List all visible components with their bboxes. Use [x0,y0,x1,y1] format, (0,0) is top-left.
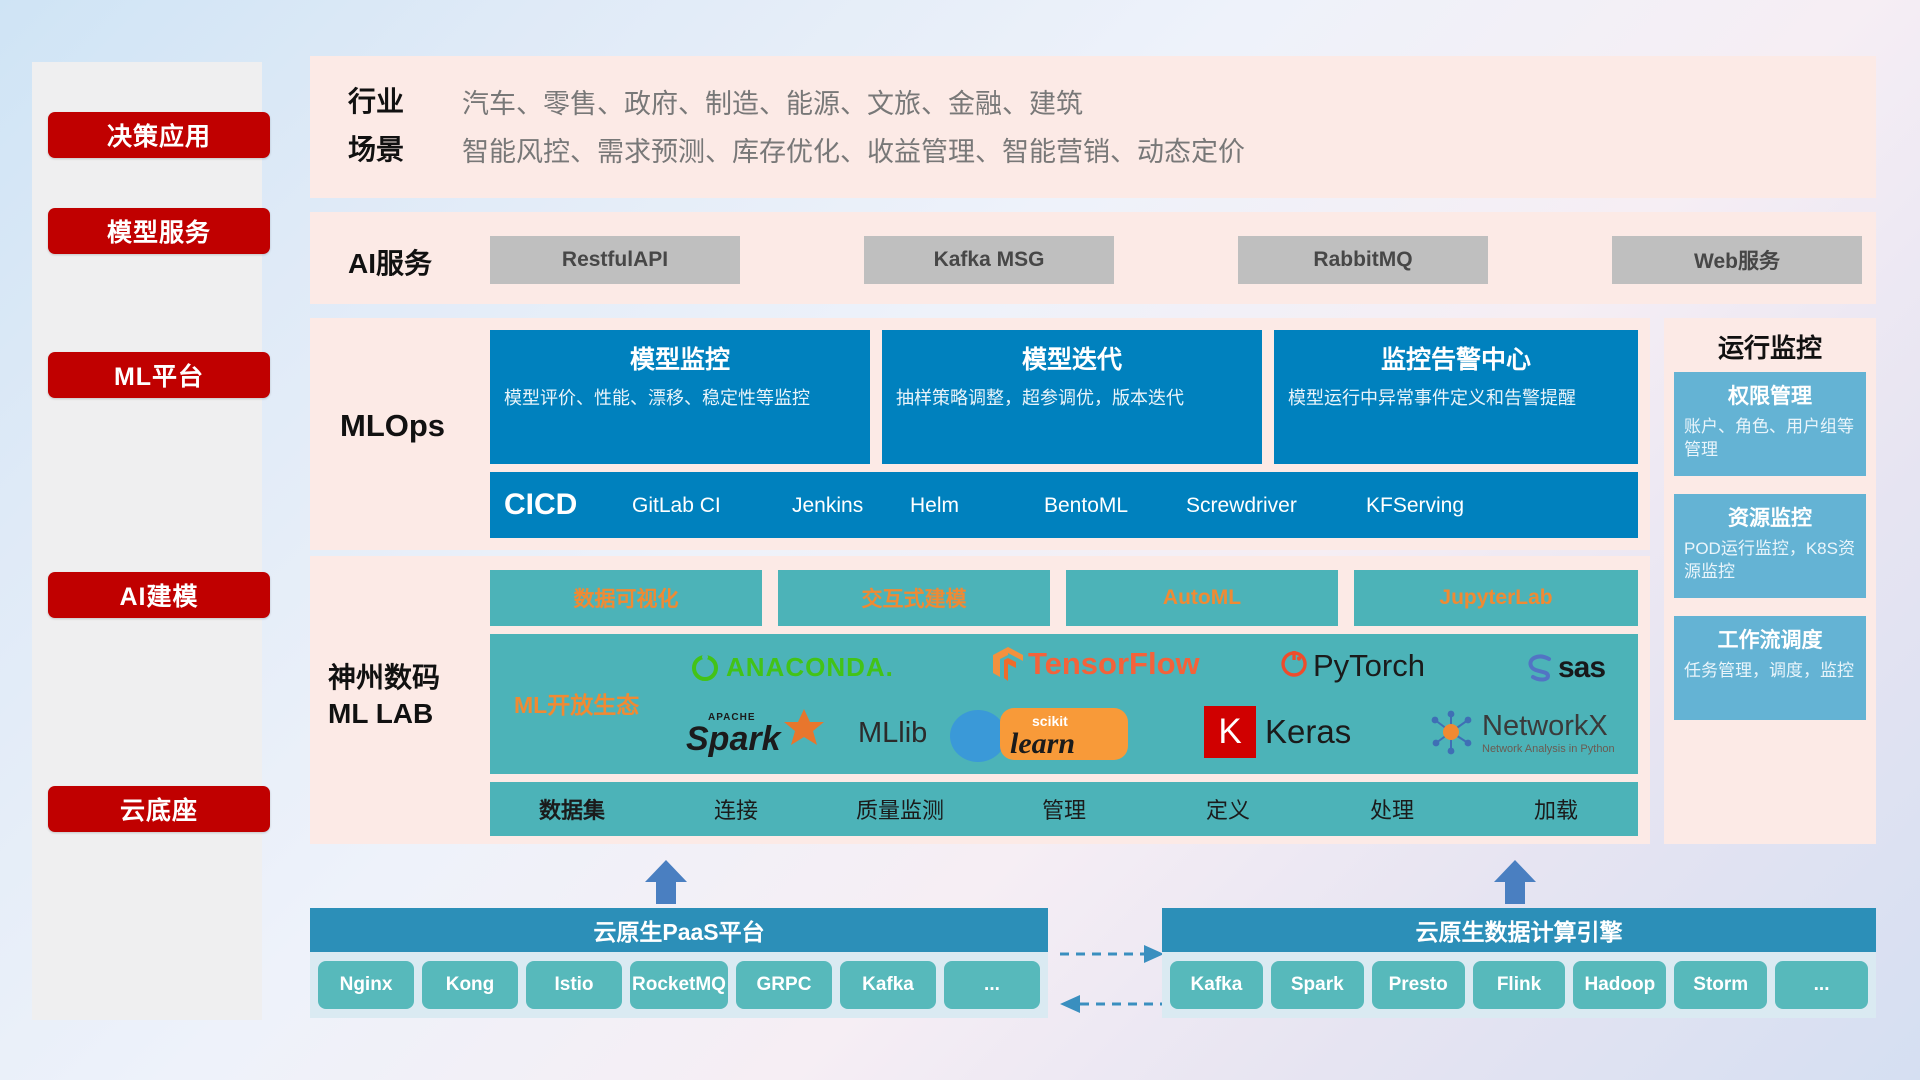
paas-chip-row: Nginx Kong Istio RocketMQ GRPC Kafka ... [310,952,1048,1018]
stage-label: ML平台 [114,357,204,393]
spark-mllib-logo: APACHE Spark MLlib [686,706,927,760]
dataset-item-process[interactable]: 处理 [1310,793,1474,825]
lab-tab-data-visualization[interactable]: 数据可视化 [490,570,762,626]
dataset-item-connect[interactable]: 连接 [654,793,818,825]
tensorflow-wordmark: TensorFlow [1028,646,1200,682]
cicd-item-helm[interactable]: Helm [910,492,1044,518]
stage-label: 决策应用 [107,117,211,153]
paas-chip-nginx[interactable]: Nginx [318,961,414,1009]
ops-card-title: 资源监控 [1684,502,1856,532]
paas-chip-kong[interactable]: Kong [422,961,518,1009]
ml-ecosystem-label: ML开放生态 [514,686,639,720]
ml-lab-label-line2: ML LAB [328,696,440,732]
api-chip-label: RestfulAPI [562,248,668,272]
sas-logo: sas [1526,651,1605,685]
cicd-item-label: GitLab CI [632,494,721,518]
stage-label: AI建模 [119,577,198,613]
ops-card-resource[interactable]: 资源监控 POD运行监控，K8S资源监控 [1674,494,1866,598]
lab-tab-label: AutoML [1163,586,1241,610]
scenario-list: 智能风控、需求预测、库存优化、收益管理、智能营销、动态定价 [462,130,1245,169]
pytorch-wordmark: PyTorch [1313,648,1425,684]
dataset-bar: 数据集 连接 质量监测 管理 定义 处理 加载 [490,782,1638,836]
engine-header: 云原生数据计算引擎 [1162,908,1876,952]
lab-tab-label: 数据可视化 [574,583,679,613]
networkx-graph-icon [1428,710,1476,756]
apache-spark-mark-icon: APACHE Spark [686,706,856,760]
anaconda-ring-icon [690,653,720,683]
ops-card-workflow[interactable]: 工作流调度 任务管理，调度，监控 [1674,616,1866,720]
stage-label: 模型服务 [107,213,211,249]
cicd-item-bentoml[interactable]: BentoML [1044,492,1186,518]
keras-mark-icon: K [1204,706,1256,758]
lab-tab-label: 交互式建模 [862,583,967,613]
dataset-item-define[interactable]: 定义 [1146,793,1310,825]
scenario-label: 场景 [348,128,404,168]
anaconda-logo: ANACONDA. [690,652,894,683]
svg-text:learn: learn [1010,727,1075,760]
api-chip-web-service[interactable]: Web服务 [1612,236,1862,284]
api-chip-label: RabbitMQ [1313,248,1412,272]
engine-chip-spark[interactable]: Spark [1271,961,1364,1009]
mlops-label: MLOps [340,408,445,444]
ml-lab-label: 神州数码 ML LAB [328,660,440,733]
engine-chip-hadoop[interactable]: Hadoop [1573,961,1666,1009]
api-chip-kafka-msg[interactable]: Kafka MSG [864,236,1114,284]
stage-chip-ml-platform[interactable]: ML平台 [48,352,270,398]
mlops-card-model-monitoring[interactable]: 模型监控 模型评价、性能、漂移、稳定性等监控 [490,330,870,464]
cicd-item-label: Helm [910,494,959,518]
paas-chip-grpc[interactable]: GRPC [736,961,832,1009]
lab-tab-automl[interactable]: AutoML [1066,570,1338,626]
networkx-wordmark: NetworkX [1482,712,1615,741]
paas-title: 云原生PaaS平台 [593,913,764,947]
stage-chip-cloud-base[interactable]: 云底座 [48,786,270,832]
engine-chip-presto[interactable]: Presto [1372,961,1465,1009]
stage-chip-model-service[interactable]: 模型服务 [48,208,270,254]
engine-chip-row: Kafka Spark Presto Flink Hadoop Storm ..… [1162,952,1876,1018]
paas-chip-more[interactable]: ... [944,961,1040,1009]
stage-label: 云底座 [120,791,198,827]
paas-chip-istio[interactable]: Istio [526,961,622,1009]
lab-tab-jupyterlab[interactable]: JupyterLab [1354,570,1638,626]
api-chip-rabbitmq[interactable]: RabbitMQ [1238,236,1488,284]
ai-service-label: AI服务 [348,242,432,282]
industry-label: 行业 [348,80,404,120]
card-desc: 抽样策略调整，超参调优，版本迭代 [896,385,1248,411]
ml-ecosystem-box: ML开放生态 ANACONDA. TensorFlow [490,634,1638,774]
ml-lab-label-line1: 神州数码 [328,660,440,696]
cicd-item-jenkins[interactable]: Jenkins [792,492,910,518]
industry-scenario-band [310,56,1876,198]
card-title: 监控告警中心 [1288,340,1624,376]
mlops-card-model-iteration[interactable]: 模型迭代 抽样策略调整，超参调优，版本迭代 [882,330,1262,464]
card-desc: 模型评价、性能、漂移、稳定性等监控 [504,385,856,411]
keras-logo: K Keras [1204,706,1351,758]
cicd-title: CICD [504,488,632,522]
sas-wordmark: sas [1558,651,1605,685]
cicd-item-label: BentoML [1044,494,1128,518]
api-chip-restfulapi[interactable]: RestfulAPI [490,236,740,284]
lab-tab-interactive-modeling[interactable]: 交互式建模 [778,570,1050,626]
networkx-logo: NetworkX Network Analysis in Python [1428,710,1615,756]
paas-chip-rocketmq[interactable]: RocketMQ [630,961,728,1009]
svg-text:Spark: Spark [686,720,783,758]
cicd-item-label: KFServing [1366,494,1464,518]
bidirectional-link-arrows [1058,940,1166,1018]
engine-chip-flink[interactable]: Flink [1473,961,1566,1009]
cicd-bar: CICD GitLab CI Jenkins Helm BentoML Scre… [490,472,1638,538]
cicd-item-screwdriver[interactable]: Screwdriver [1186,492,1366,518]
engine-title: 云原生数据计算引擎 [1416,913,1623,947]
cicd-item-label: Screwdriver [1186,494,1297,518]
ops-card-desc: 账户、角色、用户组等管理 [1684,416,1856,462]
scikit-learn-mark-icon: scikit learn [948,706,1138,762]
tensorflow-mark-icon [992,646,1024,682]
mllib-wordmark: MLlib [858,717,927,750]
stage-chip-ai-modeling[interactable]: AI建模 [48,572,270,618]
api-chip-label: Kafka MSG [934,248,1045,272]
dataset-item-manage[interactable]: 管理 [982,793,1146,825]
sas-swoosh-icon [1526,654,1556,682]
ops-monitoring-title: 运行监控 [1664,318,1876,365]
ops-card-desc: POD运行监控，K8S资源监控 [1684,538,1856,584]
lab-tab-label: JupyterLab [1439,586,1552,610]
ops-card-title: 工作流调度 [1684,624,1856,654]
api-chip-label: Web服务 [1694,245,1780,275]
dataset-label: 数据集 [490,793,654,825]
tensorflow-logo: TensorFlow [992,646,1200,682]
engine-chip-more[interactable]: ... [1775,961,1868,1009]
engine-chip-storm[interactable]: Storm [1674,961,1767,1009]
cicd-item-kfserving[interactable]: KFServing [1366,492,1536,518]
dataset-item-quality[interactable]: 质量监测 [818,793,982,825]
networkx-tagline: Network Analysis in Python [1482,743,1615,755]
paas-header: 云原生PaaS平台 [310,908,1048,952]
up-arrow-engine-icon [1492,858,1538,904]
architecture-diagram: 决策应用 模型服务 ML平台 AI建模 云底座 行业 汽车、零售、政府、制造、能… [0,0,1920,1080]
up-arrow-paas-icon [643,858,689,904]
keras-wordmark: Keras [1265,713,1351,751]
scikit-learn-logo: scikit learn [948,706,1138,762]
cicd-item-gitlab-ci[interactable]: GitLab CI [632,492,792,518]
pytorch-flame-icon [1280,650,1308,682]
card-desc: 模型运行中异常事件定义和告警提醒 [1288,385,1624,411]
stage-chip-decision[interactable]: 决策应用 [48,112,270,158]
card-title: 模型监控 [504,340,856,376]
dataset-item-load[interactable]: 加载 [1474,793,1638,825]
mlops-card-alert-center[interactable]: 监控告警中心 模型运行中异常事件定义和告警提醒 [1274,330,1638,464]
paas-chip-kafka[interactable]: Kafka [840,961,936,1009]
card-title: 模型迭代 [896,340,1248,376]
ops-card-desc: 任务管理，调度，监控 [1684,660,1856,683]
cicd-item-label: Jenkins [792,494,863,518]
ops-card-permission[interactable]: 权限管理 账户、角色、用户组等管理 [1674,372,1866,476]
engine-chip-kafka[interactable]: Kafka [1170,961,1263,1009]
anaconda-wordmark: ANACONDA. [726,652,894,683]
ops-card-title: 权限管理 [1684,380,1856,410]
stage-rail [32,62,262,1020]
industry-list: 汽车、零售、政府、制造、能源、文旅、金融、建筑 [462,82,1083,121]
pytorch-logo: PyTorch [1280,648,1425,684]
